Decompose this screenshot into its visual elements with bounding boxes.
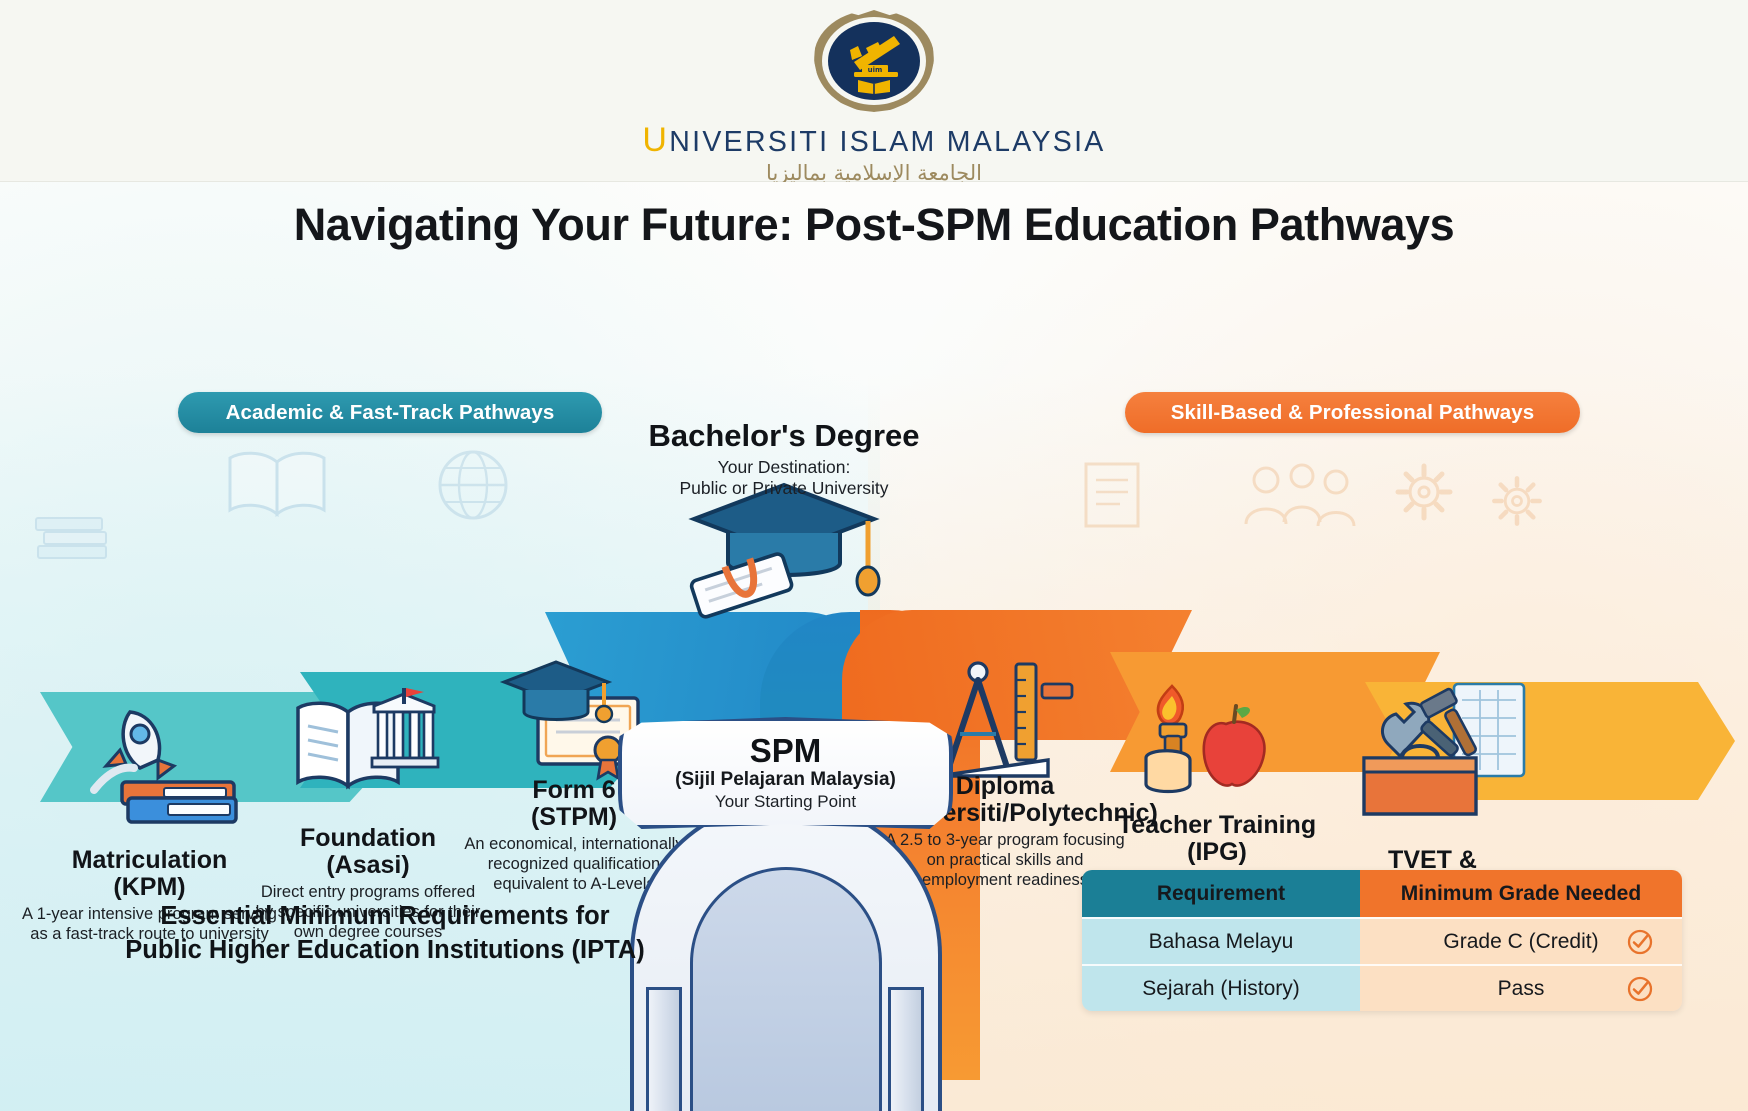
university-name-initial: U [642,121,669,159]
form6-subtitle: (STPM) [531,803,617,831]
form6-title: Form 6 [532,776,615,804]
row-grade-bahasa-melayu: Grade C (Credit) [1360,917,1682,964]
people-group-deco-icon [1240,454,1360,538]
foundation-title: Foundation [300,824,436,852]
bachelors-degree-subtitle-2: Public or Private University [679,478,888,498]
diploma-title: Diploma [956,772,1055,800]
badge-skill-pathways[interactable]: Skill-Based & Professional Pathways [1125,392,1580,433]
globe-deco-icon [432,444,514,526]
svg-text:uim: uim [868,66,883,74]
bachelors-degree-subtitle-1: Your Destination: [718,457,851,477]
check-circle-icon [1626,928,1654,956]
check-circle-icon [1626,975,1654,1003]
university-name-rest: NIVERSITI ISLAM MALAYSIA [669,126,1105,158]
table-header-grade: Minimum Grade Needed [1360,870,1682,917]
requirements-heading-line2: Public Higher Education Institutions (IP… [125,936,644,964]
teacher-training-title: Teacher Training [1118,811,1316,839]
table-row[interactable]: Bahasa Melayu Grade C (Credit) [1082,917,1682,964]
stacked-books-deco-icon [30,502,120,582]
requirements-table: Requirement Minimum Grade Needed Bahasa … [1082,870,1682,1011]
destination-bachelors-degree[interactable]: Bachelor's Degree Your Destination: Publ… [619,414,949,499]
arch-inner-opening [690,867,882,1111]
teacher-training-subtitle: (IPG) [1187,838,1247,866]
requirements-heading-line1: Essential Minimum Requirements for [160,902,609,930]
spm-title: SPM [750,734,822,767]
bachelors-degree-title: Bachelor's Degree [619,418,949,454]
header-band: uim UNIVERSITI ISLAM MALAYSIA الجامعة ال… [0,0,1748,182]
arch-pillar-right [888,987,924,1111]
crest-calligraphy-icon: uim [828,22,920,100]
main-content: Navigating Your Future: Post-SPM Educati… [0,182,1748,1111]
table-row[interactable]: Sejarah (History) Pass [1082,964,1682,1011]
table-header-requirement: Requirement [1082,870,1360,917]
page-title: Navigating Your Future: Post-SPM Educati… [0,199,1748,251]
spm-subtitle: (Sijil Pelajaran Malaysia) [675,769,896,791]
gear-small-deco-icon [1488,472,1546,530]
university-logo-block: uim UNIVERSITI ISLAM MALAYSIA الجامعة ال… [0,8,1748,185]
foundation-subtitle: (Asasi) [326,851,409,879]
row-grade-bahasa-melayu-text: Grade C (Credit) [1443,930,1598,954]
requirements-heading: Essential Minimum Requirements for Publi… [100,900,670,967]
university-name: UNIVERSITI ISLAM MALAYSIA [642,121,1105,160]
arch-pillar-left [646,987,682,1111]
row-grade-sejarah-text: Pass [1498,977,1545,1001]
row-requirement-sejarah: Sejarah (History) [1082,964,1360,1011]
badge-academic-label: Academic & Fast-Track Pathways [226,401,555,425]
gear-deco-icon [1392,460,1456,524]
spm-banner[interactable]: SPM (Sijil Pelajaran Malaysia) Your Star… [618,717,953,829]
badge-skill-label: Skill-Based & Professional Pathways [1171,401,1535,425]
row-grade-sejarah: Pass [1360,964,1682,1011]
matriculation-title: Matriculation [72,846,228,874]
badge-academic-pathways[interactable]: Academic & Fast-Track Pathways [178,392,602,433]
infographic-canvas: uim UNIVERSITI ISLAM MALAYSIA الجامعة ال… [0,0,1748,1111]
uim-crest-logo: uim [810,8,938,114]
spm-tagline: Your Starting Point [715,792,856,812]
row-requirement-bahasa-melayu: Bahasa Melayu [1082,917,1360,964]
open-book-deco-icon [222,440,332,530]
table-header-row: Requirement Minimum Grade Needed [1082,870,1682,917]
diploma-scroll-deco-icon [1068,450,1158,546]
matriculation-subtitle: (KPM) [113,873,185,901]
